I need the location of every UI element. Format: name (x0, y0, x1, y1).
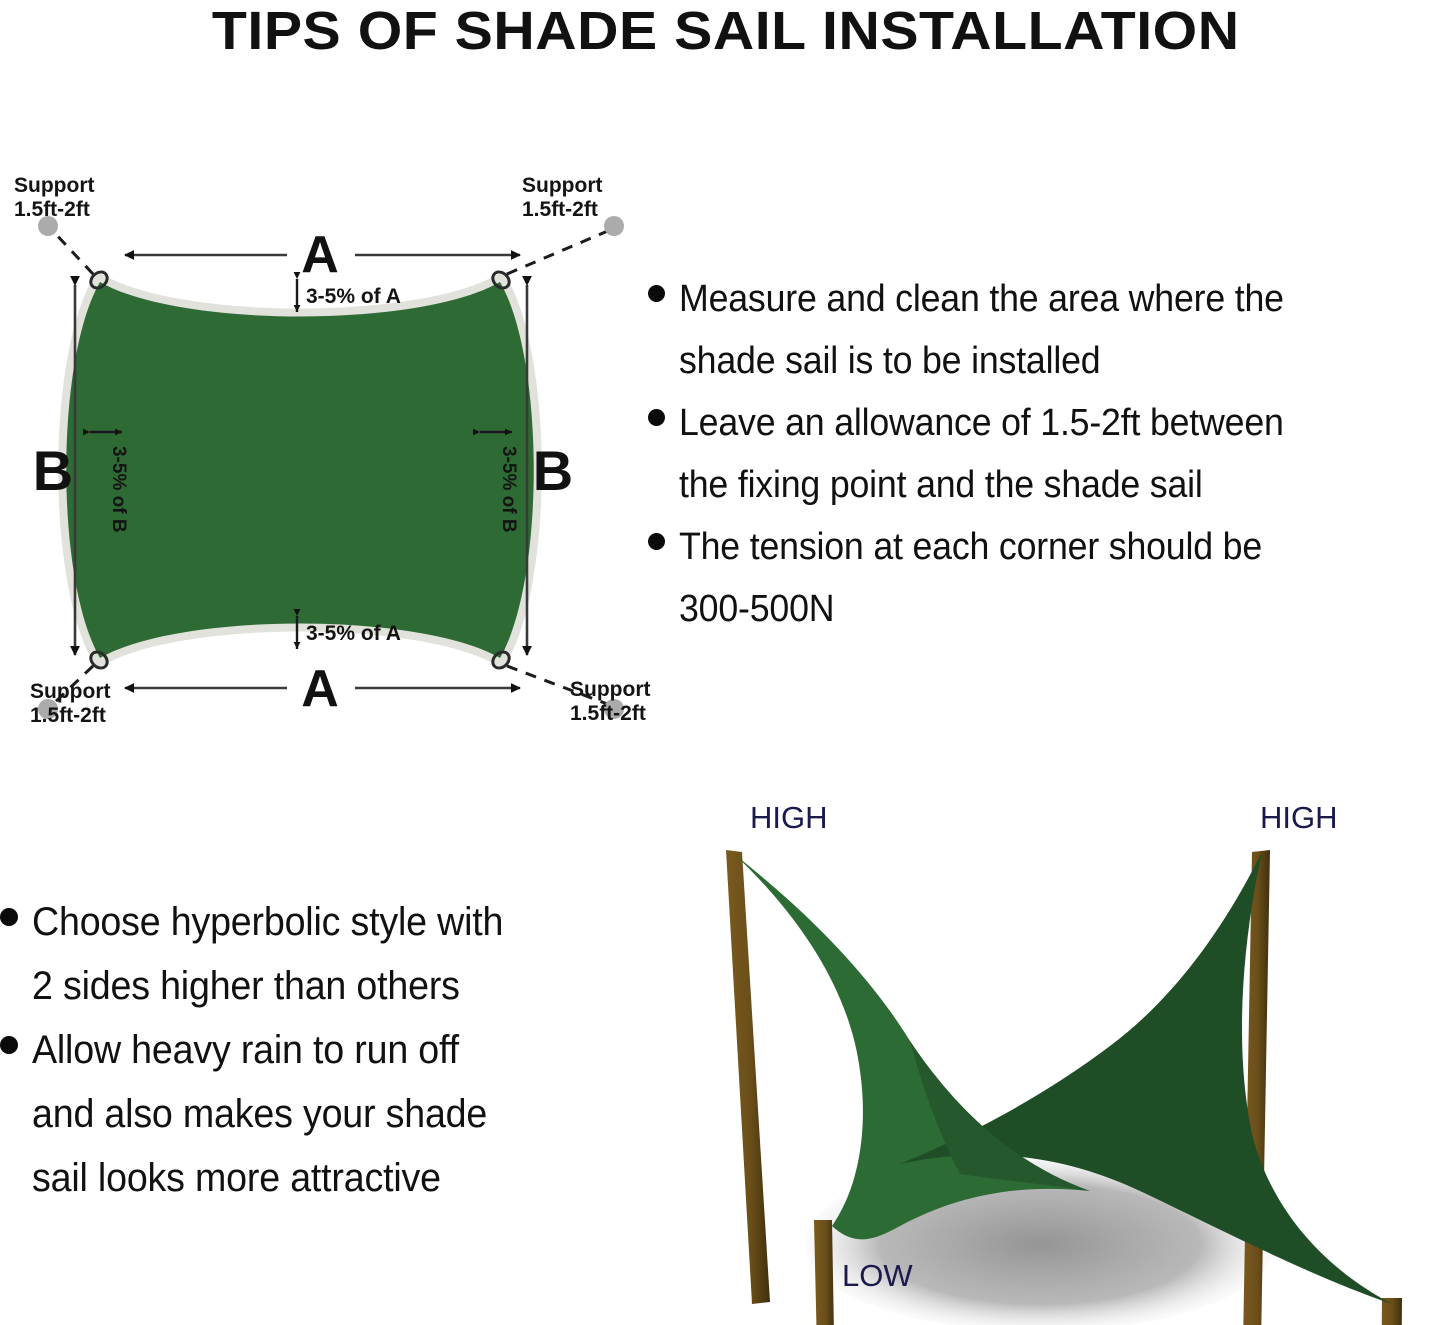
tip-line: the fixing point and the shade sail (679, 454, 1284, 516)
support-label-bottom-left-line2: 1.5ft-2ft (30, 704, 106, 727)
bullet-dot-icon (0, 908, 18, 926)
curve-b-left-label: 3-5% of B (108, 446, 129, 533)
support-line-top-left (52, 230, 93, 274)
installation-tips-list-secondary: Choose hyperbolic style with 2 sides hig… (0, 890, 625, 1210)
list-item: The tension at each corner should be 300… (648, 516, 1452, 640)
tip-line: The tension at each corner should be (679, 516, 1262, 578)
tip-line: Leave an allowance of 1.5-2ft between (679, 392, 1284, 454)
label-high-left: HIGH (750, 800, 828, 835)
hyperbolic-sail-diagram: HIGH HIGH LOW LOW (660, 786, 1452, 1325)
post-low-right (1380, 1298, 1402, 1325)
tip-line: Choose hyperbolic style with (32, 890, 503, 954)
curve-a-top-label: 3-5% of A (306, 285, 401, 308)
tip-line: shade sail is to be installed (679, 330, 1284, 392)
bullet-dot-icon (0, 1036, 18, 1054)
support-label-top-right-line2: 1.5ft-2ft (522, 198, 598, 221)
support-label-top-left-line1: Support (14, 174, 94, 197)
label-high-right: HIGH (1260, 800, 1338, 835)
tip-line: Allow heavy rain to run off (32, 1018, 487, 1082)
tip-line: sail looks more attractive (32, 1146, 487, 1210)
support-label-bottom-right-line2: 1.5ft-2ft (570, 702, 646, 725)
support-label-top-left-line2: 1.5ft-2ft (14, 198, 90, 221)
curve-a-bottom-label: 3-5% of A (306, 622, 401, 645)
rectangular-sail-diagram: Support 1.5ft-2ft Support 1.5ft-2ft Supp… (0, 160, 660, 740)
bullet-dot-icon (648, 409, 665, 426)
page-title: TIPS OF SHADE SAIL INSTALLATION (212, 4, 1240, 58)
label-low-left: LOW (842, 1258, 913, 1293)
bullet-dot-icon (648, 533, 665, 550)
list-item: Choose hyperbolic style with 2 sides hig… (0, 890, 625, 1018)
list-item: Allow heavy rain to run off and also mak… (0, 1018, 625, 1210)
tip-line: 300-500N (679, 578, 1262, 640)
list-item: Leave an allowance of 1.5-2ft between th… (648, 392, 1452, 516)
bullet-dot-icon (648, 285, 665, 302)
dim-b-left-label: B (33, 439, 73, 502)
support-dot-top-right (604, 216, 624, 236)
dim-a-bottom-label: A (301, 660, 339, 718)
page-header: TIPS OF SHADE SAIL INSTALLATION (0, 0, 1452, 62)
support-line-top-right (507, 230, 610, 274)
list-item: Measure and clean the area where the sha… (648, 268, 1452, 392)
post-high-left (726, 850, 770, 1304)
dim-b-right-label: B (533, 439, 573, 502)
support-label-bottom-left-line1: Support (30, 680, 110, 703)
support-label-bottom-right-line1: Support (570, 678, 650, 701)
installation-tips-list-primary: Measure and clean the area where the sha… (648, 268, 1452, 640)
shade-sail-body (66, 282, 534, 658)
support-label-top-right-line1: Support (522, 174, 602, 197)
curve-b-right-label: 3-5% of B (498, 446, 519, 533)
tip-line: and also makes your shade (32, 1082, 487, 1146)
tip-line: 2 sides higher than others (32, 954, 503, 1018)
tip-line: Measure and clean the area where the (679, 268, 1284, 330)
dim-a-top-label: A (301, 226, 339, 284)
post-low-left (814, 1220, 835, 1325)
